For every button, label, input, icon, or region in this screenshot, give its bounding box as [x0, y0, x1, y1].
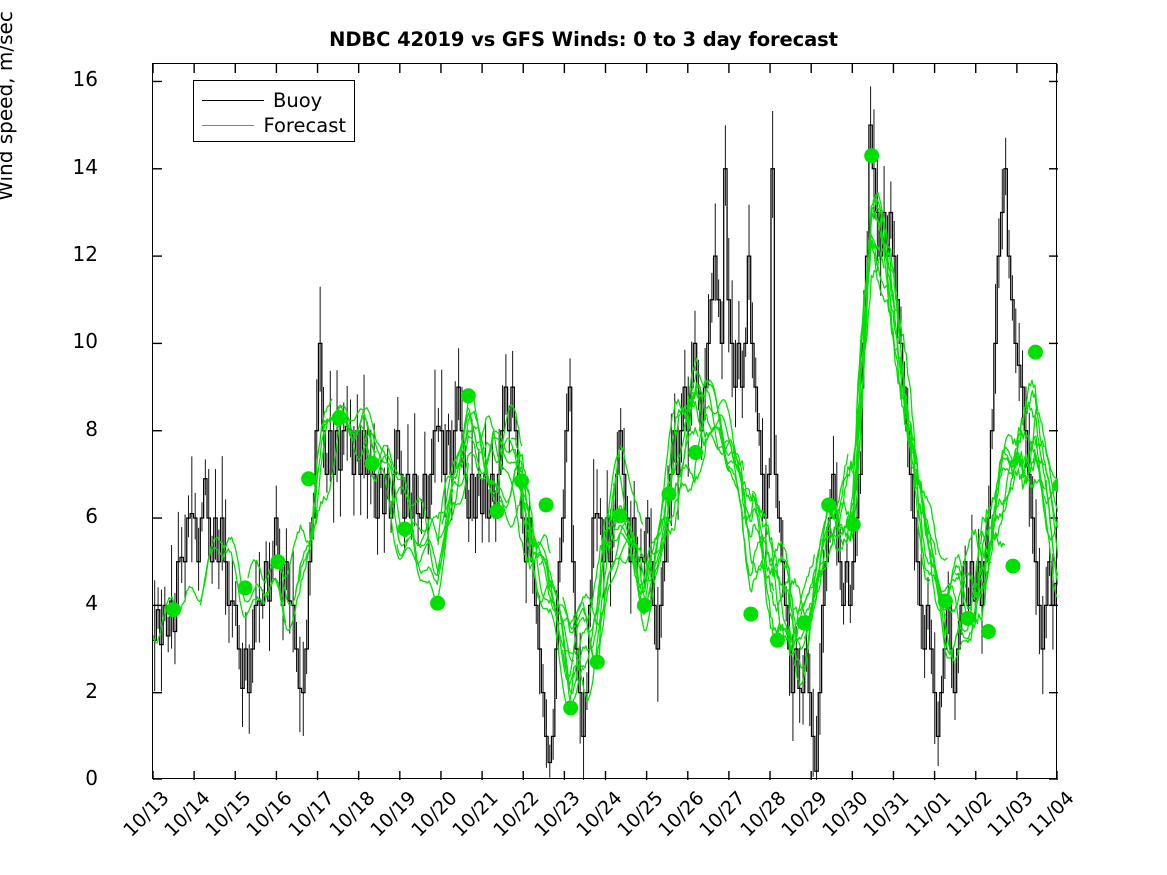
forecast-daily-marker	[960, 611, 975, 626]
forecast-daily-marker	[166, 602, 181, 617]
forecast-daily-marker	[590, 655, 605, 670]
forecast-daily-marker	[461, 388, 476, 403]
y-tick-label: 16	[38, 69, 98, 89]
forecast-daily-marker	[430, 596, 445, 611]
forecast-daily-marker	[1028, 345, 1043, 360]
forecast-daily-marker	[612, 508, 627, 523]
legend-item-forecast: Forecast	[202, 113, 346, 138]
buoy-series	[153, 125, 1058, 771]
forecast-daily-marker	[514, 473, 529, 488]
forecast-daily-marker	[981, 624, 996, 639]
legend-swatch-forecast	[202, 125, 254, 126]
y-tick-label: 2	[38, 681, 98, 701]
y-tick-label: 10	[38, 331, 98, 351]
y-tick-label: 4	[38, 593, 98, 613]
y-tick-label: 12	[38, 244, 98, 264]
forecast-daily-marker	[797, 615, 812, 630]
forecast-daily-marker	[743, 607, 758, 622]
forecast-daily-marker	[365, 456, 380, 471]
forecast-daily-marker	[270, 554, 285, 569]
forecast-daily-marker	[688, 445, 703, 460]
legend-item-buoy: Buoy	[202, 88, 346, 113]
legend: Buoy Forecast	[193, 80, 355, 142]
plot-area: Buoy Forecast	[152, 63, 1057, 779]
y-tick-label: 14	[38, 157, 98, 177]
forecast-daily-marker	[539, 497, 554, 512]
forecast-daily-marker	[846, 517, 861, 532]
forecast-daily-marker	[821, 497, 836, 512]
plot-canvas	[153, 64, 1058, 780]
forecast-daily-marker	[397, 521, 412, 536]
y-tick-label: 0	[38, 768, 98, 788]
legend-label-forecast: Forecast	[263, 116, 346, 136]
legend-label-buoy: Buoy	[273, 91, 322, 111]
forecast-daily-marker	[770, 633, 785, 648]
forecast-daily-marker	[489, 504, 504, 519]
forecast-daily-marker	[661, 487, 676, 502]
forecast-daily-marker	[563, 700, 578, 715]
forecast-daily-marker	[637, 598, 652, 613]
legend-swatch-buoy	[202, 100, 264, 101]
chart-figure: NDBC 42019 vs GFS Winds: 0 to 3 day fore…	[0, 0, 1167, 875]
forecast-trace	[153, 211, 1058, 665]
y-tick-label: 6	[38, 506, 98, 526]
forecast-daily-marker	[332, 410, 347, 425]
forecast-trace	[438, 249, 1058, 705]
forecast-daily-marker	[301, 471, 316, 486]
buoy-hourly-spikes	[155, 86, 1057, 780]
y-tick-label: 8	[38, 419, 98, 439]
forecast-daily-marker	[864, 148, 879, 163]
forecast-daily-marker	[938, 594, 953, 609]
forecast-daily-marker	[238, 580, 253, 595]
forecast-daily-marker	[1005, 559, 1020, 574]
chart-title: NDBC 42019 vs GFS Winds: 0 to 3 day fore…	[0, 28, 1167, 51]
